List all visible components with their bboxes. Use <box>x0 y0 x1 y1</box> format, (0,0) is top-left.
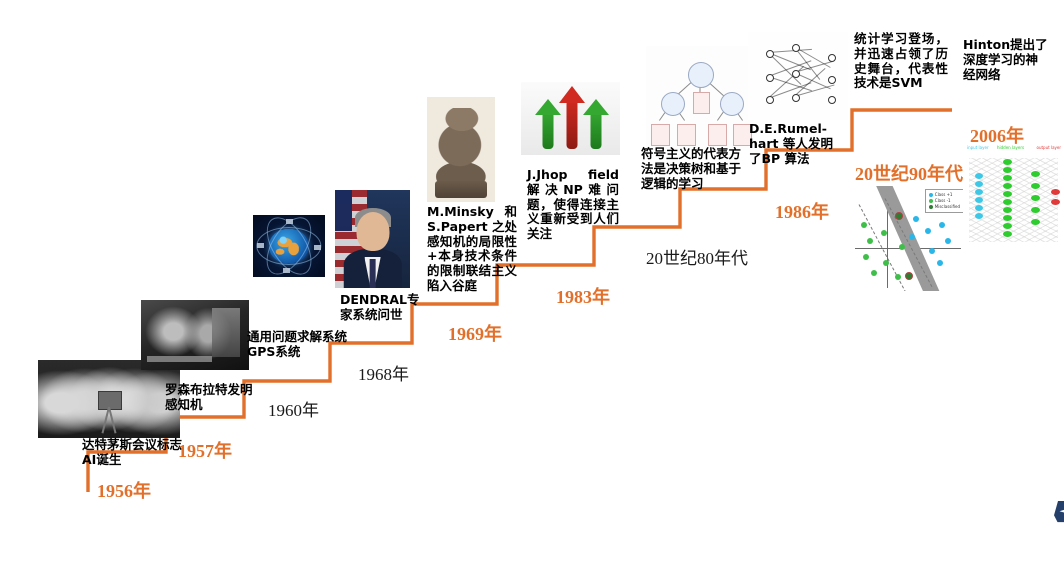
svm-point <box>881 230 887 236</box>
caption-1969: M.Minsky 和 S.Papert 之处感知机的局限性+本身技术条件的限制联… <box>427 205 517 294</box>
dartmouth-conference-photo <box>38 360 180 438</box>
svm-point <box>939 222 945 228</box>
mlp-node-input <box>766 50 774 58</box>
svm-point <box>895 274 901 280</box>
year-1980s: 20世纪80年代 <box>646 244 748 269</box>
caption-1968: DENDRAL专家系统问世 <box>340 293 424 323</box>
tree-node-root <box>688 62 714 88</box>
mlp-network-diagram <box>748 32 848 120</box>
timeline-diagram: 达特茅斯会议标志AI诞生 1956年 罗森布拉特发明感知机 1957年 通用问题… <box>0 0 1064 563</box>
svm-point <box>867 238 873 244</box>
arrow-green-left <box>535 97 561 149</box>
caption-1957: 罗森布拉特发明感知机 <box>165 383 259 413</box>
deep-net-layer-label: output layer <box>1037 145 1062 150</box>
svm-scatter-plot: Class +1 Class -1 Misclassified <box>851 186 965 291</box>
svm-point <box>925 228 931 234</box>
year-1986: 1986年 <box>775 198 829 224</box>
photo-detail <box>435 181 487 198</box>
mlp-node-input <box>766 96 774 104</box>
photo-detail <box>257 243 264 248</box>
tree-leaf <box>651 124 670 146</box>
gps-earth-satellites-image <box>253 215 325 277</box>
caption-1983: J.Jhop field 解决NP难问题，使得连接主义重新受到人们关注 <box>527 168 619 242</box>
green-red-arrows-image <box>521 82 620 155</box>
caption-1990s: 统计学习登场，并迅速占领了历史舞台，代表性技术是SVM <box>854 32 948 91</box>
year-1969: 1969年 <box>448 320 502 346</box>
tree-leaf <box>677 124 696 146</box>
caption-1960: 通用问题求解系统GPS系统 <box>247 330 355 360</box>
svm-point <box>913 216 919 222</box>
year-1956: 1956年 <box>97 477 151 503</box>
svm-point <box>871 270 877 276</box>
tree-node <box>661 92 685 116</box>
photo-detail <box>314 245 321 250</box>
caption-1986: D.E.Rumel-hart 等人发明了BP 算法 <box>749 122 833 166</box>
svm-point <box>899 244 905 250</box>
mlp-node-output <box>828 76 836 84</box>
year-1960: 1960年 <box>268 396 319 421</box>
year-2006: 2006年 <box>970 122 1024 148</box>
svm-point-misclassified <box>895 212 903 220</box>
mlp-node-output <box>828 54 836 62</box>
photo-detail <box>147 356 212 362</box>
svm-point-misclassified <box>905 272 913 280</box>
photo-detail <box>286 219 293 224</box>
tree-leaf <box>708 124 727 146</box>
page-corner-mark <box>1054 501 1064 535</box>
svm-point <box>945 238 951 244</box>
svm-point <box>883 260 889 266</box>
decision-tree-diagram <box>646 46 754 150</box>
photo-detail <box>283 268 290 273</box>
caption-1980s: 符号主义的代表方法是决策树和基于逻辑的学习 <box>641 147 751 191</box>
perceptron-lab-photo <box>141 300 249 370</box>
svm-legend: Class +1 Class -1 Misclassified <box>925 189 964 213</box>
photo-detail <box>108 407 116 433</box>
mlp-node-input <box>766 74 774 82</box>
arrow-red-center <box>559 85 585 149</box>
photo-detail <box>356 212 389 251</box>
year-1990s: 20世纪90年代 <box>855 160 963 186</box>
mlp-node-hidden <box>792 44 800 52</box>
mlp-node-output <box>828 96 836 104</box>
year-1983: 1983年 <box>556 283 610 309</box>
caption-1956: 达特茅斯会议标志AI诞生 <box>82 438 186 468</box>
thinker-statue-image <box>427 97 495 202</box>
photo-detail <box>212 308 240 357</box>
tree-node <box>720 92 744 116</box>
svm-point <box>863 254 869 260</box>
deep-neural-network-diagram: input layer hidden layers output layer <box>963 143 1064 248</box>
caption-2006: Hinton提出了深度学习的神经网络 <box>963 38 1049 82</box>
svm-point <box>929 248 935 254</box>
year-1957: 1957年 <box>178 437 232 463</box>
year-1968: 1968年 <box>358 360 409 385</box>
svm-legend-item: Misclassified <box>929 204 960 210</box>
arrow-green-right <box>583 97 609 149</box>
svm-point <box>861 222 867 228</box>
tree-leaf <box>693 92 710 114</box>
photo-detail <box>369 259 376 288</box>
mlp-node-hidden <box>792 94 800 102</box>
svm-point <box>937 260 943 266</box>
svm-point <box>909 234 915 240</box>
mlp-node-hidden <box>792 70 800 78</box>
dendral-portrait-photo <box>335 190 410 288</box>
